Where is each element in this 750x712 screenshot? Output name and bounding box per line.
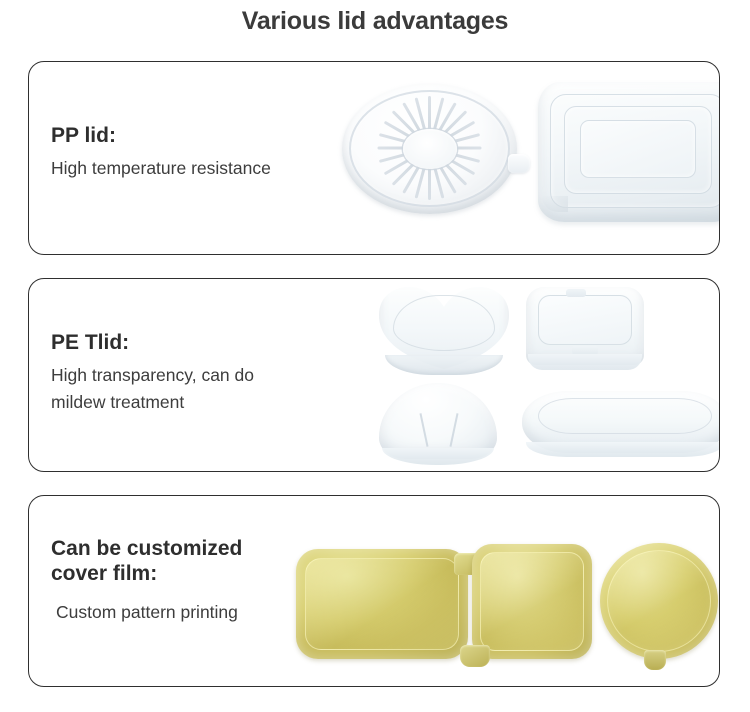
pe-oval-top-panel	[538, 398, 712, 434]
pe-lid-heading: PE Tlid:	[51, 331, 301, 355]
pe-dome-base	[382, 448, 494, 465]
gold-circular-foil-lid-image	[600, 543, 718, 659]
gold-square-foil-lid-image	[472, 544, 592, 659]
pe-lid-description: High transparency, can do mildew treatme…	[51, 362, 301, 416]
square-pe-dome-lid-image	[526, 287, 644, 365]
pp-round-hub	[403, 129, 457, 169]
pe-square-top-panel	[538, 295, 632, 345]
pe-oval-base	[526, 442, 720, 457]
round-pe-dome-lid-image	[379, 383, 497, 459]
gold-rect-inner-panel	[305, 558, 459, 650]
pe-square-notch-top	[566, 289, 586, 297]
pp-lid-heading: PP lid:	[51, 124, 271, 148]
rectangular-pp-lid-image	[538, 82, 720, 222]
pe-heart-inner-ridge	[393, 295, 495, 351]
oval-flat-pe-lid-image	[522, 391, 720, 453]
card-pp-lid: PP lid: High temperature resistance	[28, 61, 720, 255]
pp-round-pull-tab	[508, 154, 530, 173]
gold-square-inner-panel	[480, 552, 584, 651]
heart-shaped-pe-dome-lid-image	[379, 285, 509, 369]
gold-circle-inner-panel	[607, 550, 711, 652]
card-cover-film: Can be customized cover film: Custom pat…	[28, 495, 720, 687]
cover-film-text-block: Can be customized cover film: Custom pat…	[51, 536, 242, 626]
pp-lid-text-block: PP lid: High temperature resistance	[51, 124, 271, 182]
cover-film-heading: Can be customized cover film:	[51, 536, 242, 586]
cover-film-products	[304, 496, 719, 686]
gold-circle-pull-tab	[644, 650, 666, 670]
pp-rect-ring-inner	[580, 120, 696, 178]
pp-lid-products	[304, 62, 719, 254]
round-ribbed-pp-lid-image	[342, 84, 517, 214]
pe-square-base	[528, 354, 642, 370]
pp-lid-description: High temperature resistance	[51, 155, 271, 182]
gold-rectangular-foil-lid-image	[296, 549, 468, 659]
gold-square-pull-tab	[460, 645, 490, 667]
pe-heart-base	[385, 355, 503, 375]
pe-lid-products	[304, 279, 719, 471]
cover-film-description: Custom pattern printing	[51, 599, 242, 626]
page-title: Various lid advantages	[0, 7, 750, 36]
pe-lid-text-block: PE Tlid: High transparency, can do milde…	[51, 331, 301, 416]
card-pe-lid: PE Tlid: High transparency, can do milde…	[28, 278, 720, 472]
